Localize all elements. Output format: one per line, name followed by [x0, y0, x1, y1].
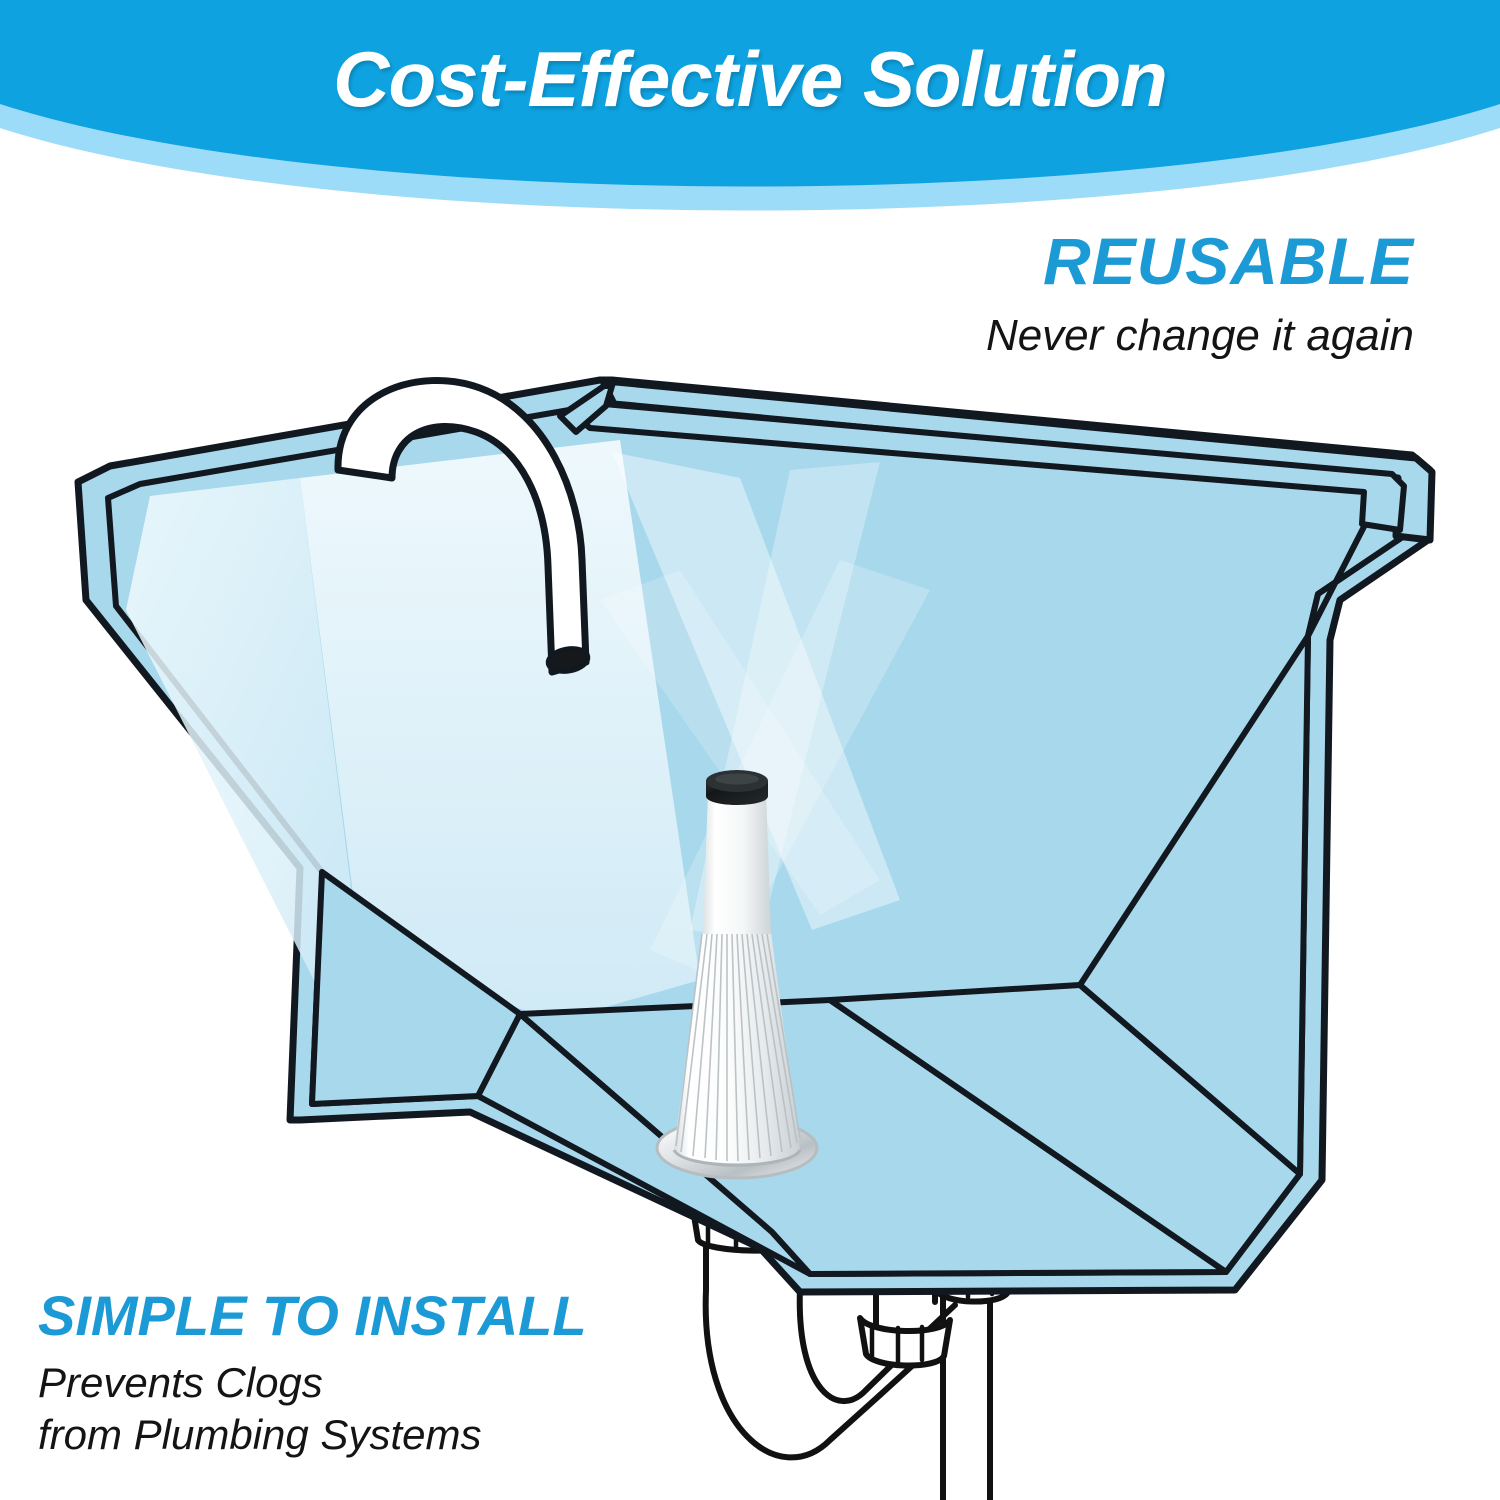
feature-subtext-line-2: from Plumbing Systems [38, 1410, 587, 1460]
infographic-page: Cost-Effective Solution REUSABLE Never c… [0, 0, 1500, 1500]
filter-cap [706, 770, 768, 805]
feature-subtext-reusable: Never change it again [986, 310, 1414, 362]
page-title: Cost-Effective Solution [0, 34, 1500, 125]
feature-block-reusable: REUSABLE Never change it again [986, 228, 1414, 362]
feature-headline-reusable: REUSABLE [986, 228, 1414, 294]
feature-subtext-line-1: Prevents Clogs [38, 1358, 587, 1408]
feature-block-simple-to-install: SIMPLE TO INSTALL Prevents Clogs from Pl… [38, 1288, 587, 1459]
header-banner: Cost-Effective Solution [0, 0, 1500, 240]
filter-neck [703, 790, 771, 934]
feature-headline-simple-to-install: SIMPLE TO INSTALL [38, 1288, 587, 1344]
